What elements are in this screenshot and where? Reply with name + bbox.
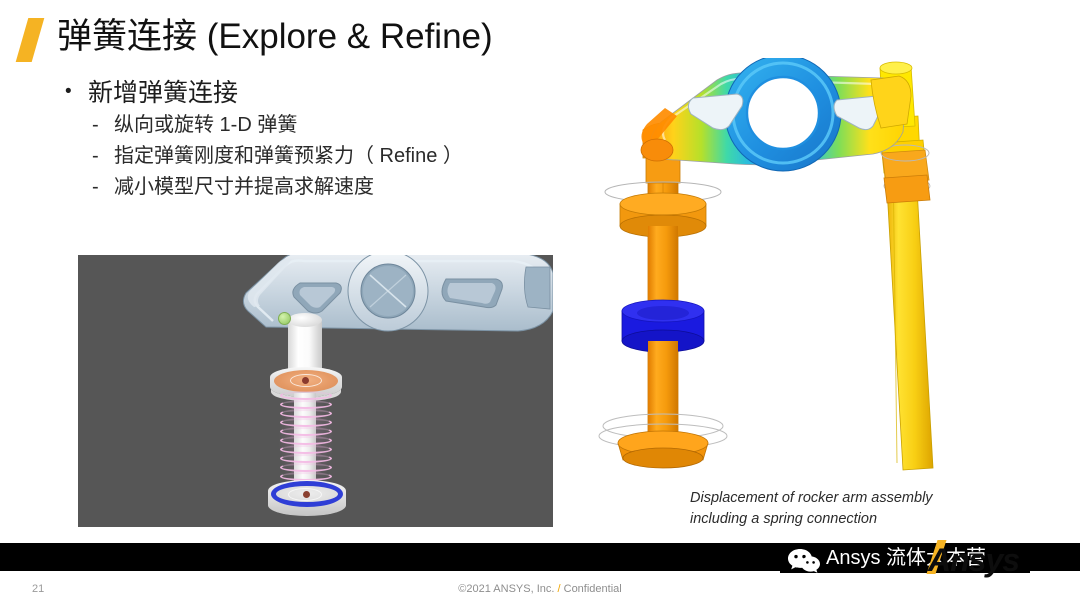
bullet-level2-1: 指定弹簧刚度和弹簧预紧力（ Refine ） [62, 141, 582, 172]
selection-point-icon [278, 312, 291, 325]
bullet-level2-2: 减小模型尺寸并提高求解速度 [62, 172, 582, 203]
title-accent-slash-icon [16, 18, 45, 62]
bullet-list: 新增弹簧连接 纵向或旋转 1-D 弹簧 指定弹簧刚度和弹簧预紧力（ Refine… [62, 76, 582, 203]
discovery-screenshot-panel: Structural Spring Longitudinal Stiffness… [78, 255, 553, 527]
spring-coils-graphic [280, 391, 332, 487]
copyright-suffix: Confidential [564, 583, 622, 595]
wechat-icon [788, 548, 820, 574]
spring-anchor-top-icon [302, 377, 309, 384]
caption-line-2: including a spring connection [690, 509, 1020, 530]
spring-anchor-bottom-icon [303, 491, 310, 498]
render-caption: Displacement of rocker arm assembly incl… [690, 488, 1020, 530]
copyright-slash: / [558, 583, 561, 595]
ansys-logo: Ansys [928, 542, 1019, 579]
valve-spring-assembly-graphic [248, 305, 378, 527]
valve-stem-cap [288, 313, 322, 327]
slide-root: 弹簧连接 (Explore & Refine) 新增弹簧连接 纵向或旋转 1-D… [0, 0, 1080, 608]
wechat-watermark: Ansys 流体大本营 Ansys [780, 536, 1080, 578]
page-title: 弹簧连接 (Explore & Refine) [57, 13, 493, 61]
bullet-level2-0: 纵向或旋转 1-D 弹簧 [62, 110, 582, 141]
copyright-prefix: ©2021 ANSYS, Inc. [458, 583, 554, 595]
caption-line-1: Displacement of rocker arm assembly [690, 488, 1020, 509]
copyright-notice: ©2021 ANSYS, Inc. / Confidential [0, 583, 1080, 595]
valve-stem [288, 320, 322, 372]
rocker-arm-result-graphic [585, 58, 1075, 488]
bullet-level1: 新增弹簧连接 [62, 76, 582, 110]
